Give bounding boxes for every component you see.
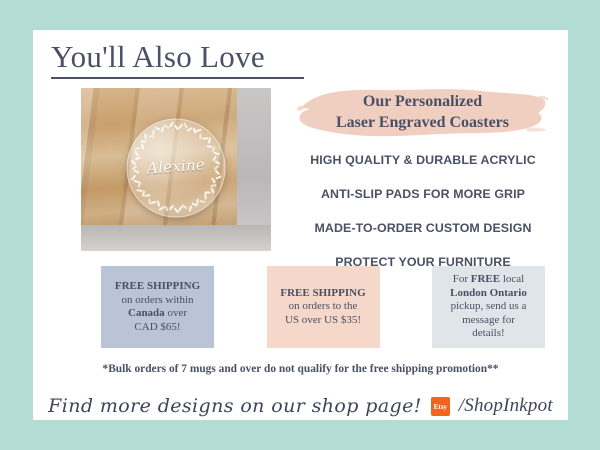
shipping-box-text: FREE SHIPPINGon orders to theUS over US … (276, 287, 369, 328)
wreath-leaf (200, 200, 206, 203)
wreath-leaf (183, 122, 187, 128)
acrylic-coaster: Alexine (127, 118, 226, 217)
page-title-text: You'll Also Love (51, 38, 331, 76)
wreath-leaf (134, 179, 140, 183)
wreath-leaf (157, 200, 160, 206)
title-underline (51, 77, 304, 79)
wreath-leaf (140, 141, 146, 143)
wreath-leaf (154, 126, 160, 130)
page-title: You'll Also Love (51, 38, 331, 79)
shipping-box-line: pickup, send us a (450, 300, 527, 314)
shipping-boxes: FREE SHIPPINGon orders withinCanada over… (101, 266, 545, 348)
shop-handle-link[interactable]: /ShopInkpot (459, 395, 553, 417)
shipping-box-line: For FREE local (450, 273, 527, 287)
canada-shipping-box: FREE SHIPPINGon orders withinCanada over… (101, 266, 214, 348)
wreath-leaf (145, 194, 151, 197)
shipping-box-line: details! (450, 327, 527, 341)
shipping-box-line: message for (450, 314, 527, 328)
wreath-leaf (211, 187, 215, 193)
coaster-engraved-name: Alexine (126, 154, 226, 179)
brush-stroke-banner: Our Personalized Laser Engraved Coasters (295, 84, 550, 142)
shipping-box-line: on orders to the (280, 300, 365, 314)
wreath-leaf (134, 147, 140, 150)
shipping-box-line: FREE SHIPPING (115, 280, 200, 294)
wreath-leaf (144, 134, 147, 140)
white-card: You'll Also Love Alexine Our Personalize… (33, 30, 568, 420)
feature-line: MADE-TO-ORDER CUSTOM DESIGN (288, 221, 558, 235)
shipping-box-line: Canada over (115, 307, 200, 321)
shipping-box-line: CAD $65! (115, 321, 200, 335)
wreath-leaf (204, 194, 207, 200)
bulk-order-disclaimer: *Bulk orders of 7 mugs and over do not q… (33, 363, 568, 375)
feature-line: ANTI-SLIP PADS FOR MORE GRIP (288, 187, 558, 201)
etsy-logo-icon[interactable]: Etsy (431, 397, 450, 416)
wreath-leaf (169, 122, 174, 128)
wreath-leaf (202, 137, 208, 140)
footer-script-text: Find more designs on our shop page! (48, 395, 422, 417)
brush-title-line-2: Laser Engraved Coasters (295, 112, 550, 133)
wreath-leaf (136, 189, 142, 192)
wreath-leaf (208, 137, 211, 143)
brush-title-text: Our Personalized Laser Engraved Coasters (295, 91, 550, 133)
feature-list: HIGH QUALITY & DURABLE ACRYLICANTI-SLIP … (288, 153, 558, 269)
wreath-leaf (153, 129, 156, 135)
photo-floor-strip (81, 225, 271, 251)
wreath-leaf (196, 129, 202, 133)
brush-title-line-1: Our Personalized (295, 91, 550, 112)
etsy-logo-label: Etsy (434, 402, 447, 411)
footer: Find more designs on our shop page! Etsy… (33, 392, 568, 420)
wreath-leaf (215, 175, 221, 179)
wreath-leaf (148, 198, 150, 204)
shipping-box-text: FREE SHIPPINGon orders withinCanada over… (111, 280, 204, 334)
feature-line: HIGH QUALITY & DURABLE ACRYLIC (288, 153, 558, 167)
shipping-box-line: FREE SHIPPING (280, 287, 365, 301)
wreath-leaf (188, 205, 192, 211)
product-photo: Alexine (81, 88, 271, 251)
wreath-leaf (159, 206, 165, 211)
poster-root: You'll Also Love Alexine Our Personalize… (0, 0, 600, 450)
shipping-box-line: US over US $35! (280, 314, 365, 328)
wreath-leaf (151, 201, 157, 205)
wreath-leaf (140, 143, 144, 149)
wreath-leaf (178, 123, 184, 129)
wreath-leaf (207, 145, 213, 148)
wreath-leaf (178, 206, 183, 212)
shipping-box-text: For FREE localLondon Ontariopickup, send… (446, 273, 531, 341)
local-pickup-box: For FREE localLondon Ontariopickup, send… (432, 266, 545, 348)
shipping-box-line: on orders within (115, 294, 200, 308)
wreath-leaf (161, 127, 165, 133)
us-shipping-box: FREE SHIPPINGon orders to theUS over US … (267, 266, 380, 348)
shipping-box-line: London Ontario (450, 287, 527, 301)
